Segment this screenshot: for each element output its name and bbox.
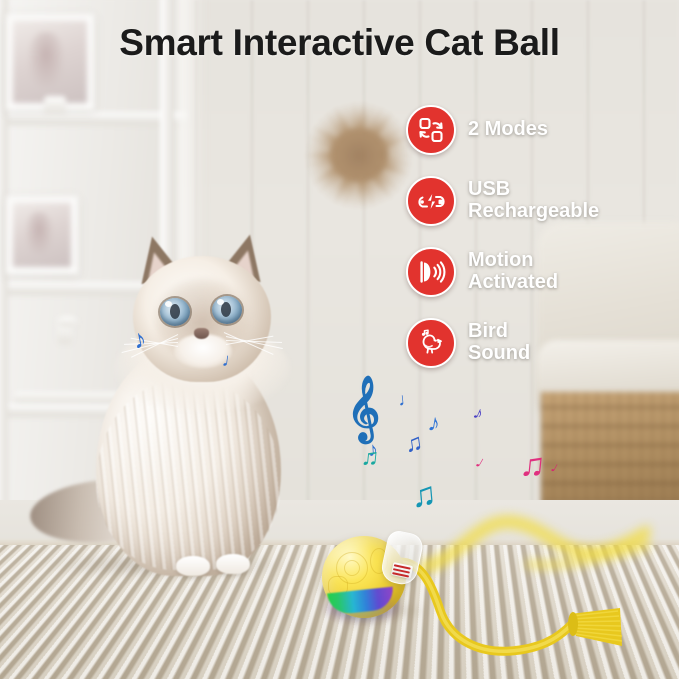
- bird-music-icon: [406, 318, 456, 368]
- ball-emboss-detail: [344, 560, 360, 576]
- cat-nose: [194, 328, 209, 339]
- cat-muzzle: [174, 334, 232, 368]
- cat-eye-glint-right: [217, 299, 224, 305]
- product-marketing-image: (function(){ var sb=document.currentScri…: [0, 0, 679, 679]
- feature-list: 2 Modes USB Rechargeable: [406, 100, 676, 384]
- cat: (function(){ var c=document.currentScrip…: [28, 230, 328, 575]
- rope-leash: [396, 552, 646, 672]
- feature-item-usb-rechargeable[interactable]: USB Rechargeable: [406, 171, 676, 231]
- shelf-object: [44, 96, 66, 114]
- straw-starburst-decor: (function(){ var sb=document.currentScri…: [300, 95, 418, 215]
- shelf-board: [0, 112, 186, 125]
- cat-ball-product: [322, 528, 430, 620]
- clear-cap: [379, 529, 425, 587]
- feature-label: Motion Activated: [468, 250, 558, 293]
- feature-item-2-modes[interactable]: 2 Modes: [406, 100, 676, 160]
- feature-label: Bird Sound: [468, 321, 530, 364]
- cat-paw-right: [216, 554, 250, 574]
- feature-label: USB Rechargeable: [468, 179, 599, 222]
- two-modes-swap-icon: [406, 105, 456, 155]
- cat-pupil-left: [170, 304, 180, 319]
- page-title: Smart Interactive Cat Ball: [0, 22, 679, 64]
- feature-item-motion-activated[interactable]: Motion Activated: [406, 242, 676, 302]
- feature-label: 2 Modes: [468, 119, 548, 141]
- rattan-base: [541, 392, 679, 504]
- usb-lightning-icon: [406, 176, 456, 226]
- cat-paw-left: [176, 556, 210, 576]
- cat-eye-glint-left: [165, 301, 172, 307]
- motion-waves-icon: [406, 247, 456, 297]
- feature-item-bird-sound[interactable]: Bird Sound: [406, 313, 676, 373]
